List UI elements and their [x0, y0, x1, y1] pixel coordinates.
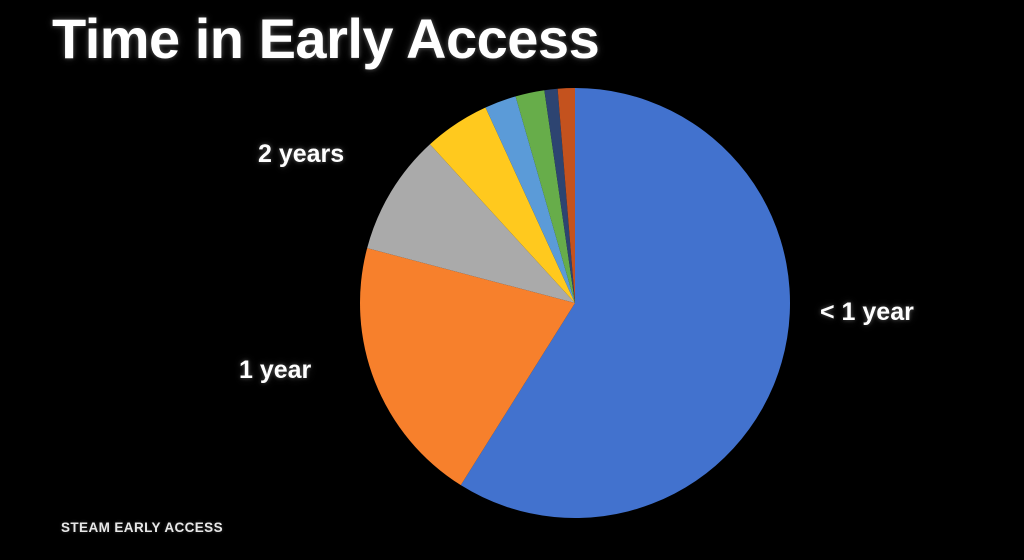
- source-caption: STEAM EARLY ACCESS: [61, 520, 223, 535]
- pie-label-less-than-1-year: < 1 year: [820, 298, 914, 327]
- pie-chart: [0, 0, 1024, 560]
- pie-label-1-year: 1 year: [239, 356, 311, 385]
- slide-canvas: Time in Early Access 2 years 1 year < 1 …: [0, 0, 1024, 560]
- pie-chart-svg: [0, 0, 1024, 560]
- pie-label-2-years: 2 years: [258, 140, 344, 169]
- pie-slice-group: [360, 88, 790, 518]
